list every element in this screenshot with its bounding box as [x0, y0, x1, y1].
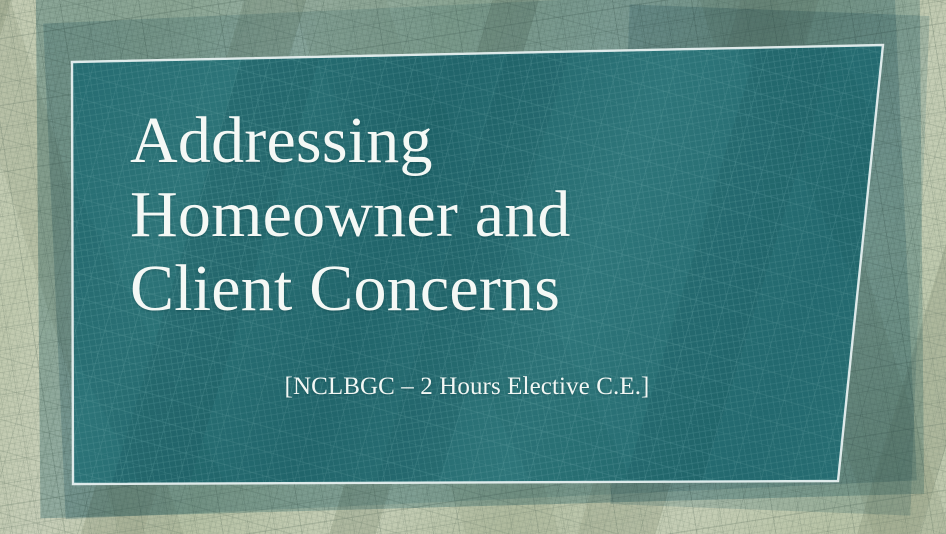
title-line-3: Client Concerns	[130, 252, 770, 326]
slide-title: Addressing Homeowner and Client Concerns	[130, 104, 770, 326]
title-slide: Addressing Homeowner and Client Concerns…	[0, 0, 946, 534]
title-line-1: Addressing	[130, 104, 770, 178]
title-line-2: Homeowner and	[130, 178, 770, 252]
slide-subtitle: [NCLBGC – 2 Hours Elective C.E.]	[72, 372, 862, 402]
